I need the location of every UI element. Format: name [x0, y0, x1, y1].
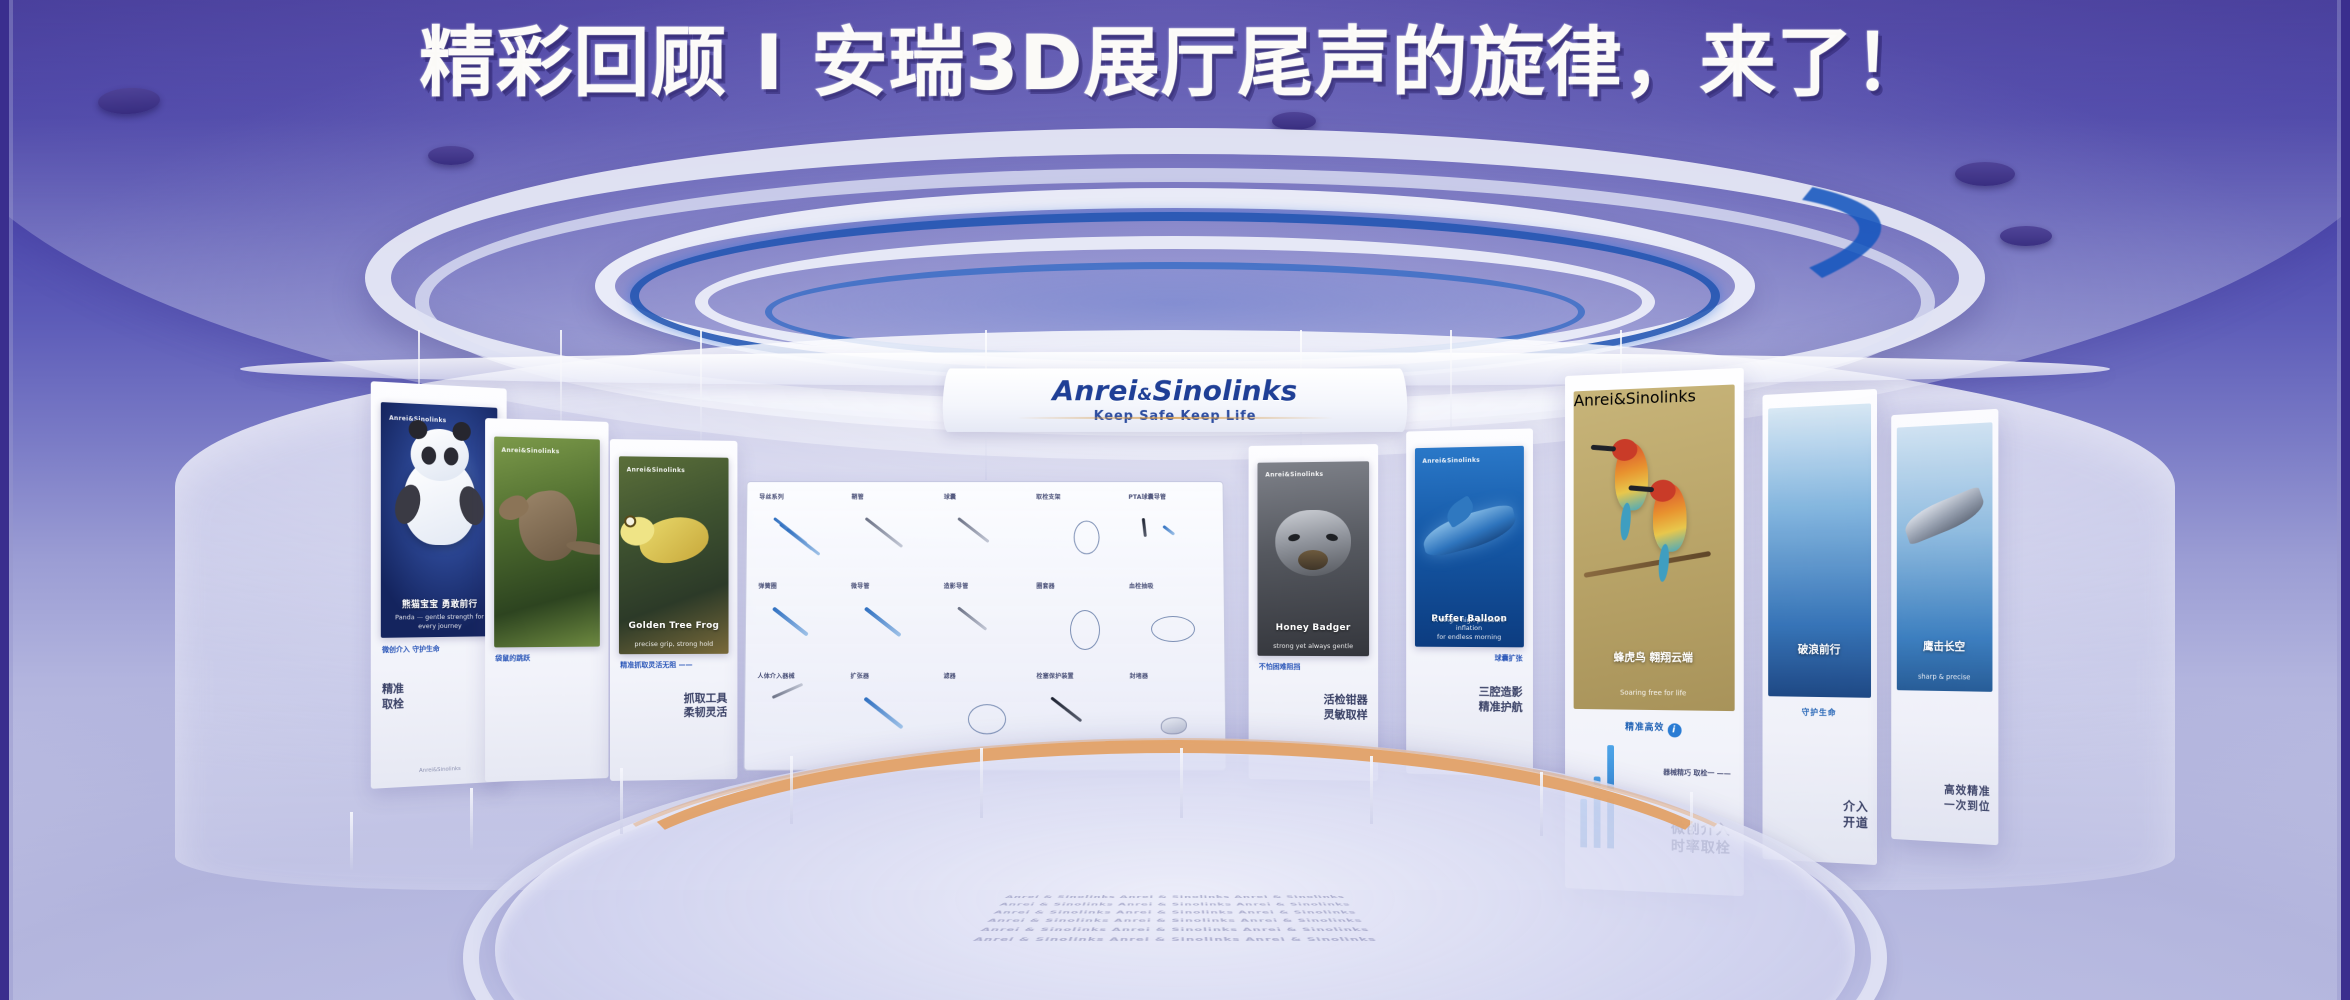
- poster-brand-label: Anrei&Sinolinks: [1574, 384, 1735, 410]
- banner-brand-text: 守护生命: [1802, 708, 1837, 718]
- stage-rail-post: [350, 812, 353, 870]
- instrument-label: PTA球囊导管: [1128, 492, 1166, 501]
- instrument-label: 导丝系列: [759, 492, 784, 501]
- instrument-label: 弹簧圈: [758, 581, 777, 590]
- instrument-cell[interactable]: PTA球囊导管: [1124, 492, 1215, 579]
- bird-illustration: [1615, 443, 1648, 512]
- left-edge-strip: [0, 0, 9, 1000]
- banner-image-bee-eater: Anrei&Sinolinks 蜂虎鸟 翱翔云端 Soaring free fo…: [1574, 384, 1735, 711]
- banner-subtitle: Soaring free for life: [1586, 688, 1721, 697]
- left-edge-soft: [9, 0, 13, 1000]
- poster-title: 熊猫宝宝 勇敢前行: [390, 600, 488, 612]
- brand-logo-amp: &: [1137, 385, 1152, 405]
- brand-logo-primary: Anrei: [1052, 374, 1137, 407]
- panel-body-text: 精准 取栓: [382, 680, 496, 713]
- banner-title: 破浪前行: [1776, 641, 1863, 657]
- instrument-cell[interactable]: 弹簧圈: [754, 581, 846, 669]
- instrument-label: 球囊: [944, 492, 956, 501]
- instrument-label: 栓塞保护装置: [1036, 671, 1073, 680]
- poster-brand-label: Anrei&Sinolinks: [501, 447, 559, 456]
- instrument-cell[interactable]: 血栓抽吸: [1125, 581, 1217, 669]
- ceiling-spotlight: [1272, 112, 1316, 130]
- poster-frog: Anrei&Sinolinks Golden Tree Frog precise…: [619, 456, 729, 654]
- poster-kangaroo: Anrei&Sinolinks: [494, 436, 600, 647]
- poster-subtitle: Panda — gentle strength for every journe…: [390, 613, 488, 631]
- ceiling-spotlight: [428, 146, 474, 165]
- panel-body-text: 三腔造影 精准护航: [1416, 685, 1522, 716]
- instrument-label: 封堵器: [1129, 671, 1148, 680]
- display-panel-frog[interactable]: Anrei&Sinolinks Golden Tree Frog precise…: [610, 439, 738, 781]
- kangaroo-illustration: [519, 490, 576, 561]
- instrument-cell[interactable]: 扩张器: [846, 671, 938, 760]
- instrument-label: 圈套器: [1036, 581, 1055, 590]
- panda-illustration: [404, 458, 476, 546]
- poster-brand-label: Anrei&Sinolinks: [1422, 457, 1480, 465]
- poster-badger: Anrei&Sinolinks Honey Badger strong yet …: [1258, 461, 1369, 656]
- exhibition-banner: Anrei&Sinolinks Keep Safe Keep Life Anre…: [0, 0, 2350, 1000]
- panel-caption: 球囊扩张: [1416, 654, 1522, 664]
- display-panel-dolphin[interactable]: Anrei&Sinolinks Puffer Balloon A single …: [1406, 428, 1533, 776]
- instrument-cell[interactable]: 人体介入器械: [753, 671, 845, 760]
- banner-wave[interactable]: 破浪前行 守护生命 介入 开道: [1762, 389, 1877, 865]
- poster-title: Honey Badger: [1266, 623, 1360, 634]
- banner-chart-caption: 器械精巧 取栓一 ——: [1663, 768, 1731, 780]
- banner-headline: 高效精准 一次到位: [1944, 783, 1991, 814]
- honey-badger-illustration: [1275, 510, 1351, 576]
- instrument-label: 人体介入器械: [757, 671, 794, 680]
- banner-brand-text: 精准高效: [1625, 723, 1664, 734]
- stage-rail-post: [1180, 748, 1183, 818]
- stage-rail-post: [980, 748, 983, 818]
- poster-brand-label: Anrei&Sinolinks: [627, 466, 685, 474]
- instrument-grid-board[interactable]: 导丝系列 鞘管 球囊 取栓支架 PTA球囊导管 弹簧圈 微导管 造影导管 圈套器…: [743, 481, 1226, 771]
- ceiling-spotlight: [1955, 162, 2015, 186]
- display-panel-badger[interactable]: Anrei&Sinolinks Honey Badger strong yet …: [1249, 444, 1379, 781]
- frog-illustration: [639, 518, 709, 562]
- page-title: 精彩回顾 I 安瑞3D展厅尾声的旋律，来了！: [0, 24, 2350, 102]
- brand-underline: [1017, 417, 1334, 419]
- banner-image-wave: 破浪前行: [1768, 403, 1871, 698]
- instrument-label: 扩张器: [850, 671, 869, 680]
- instrument-cell[interactable]: 鞘管: [847, 492, 938, 579]
- brand-logo: Anrei&Sinolinks: [1052, 377, 1297, 405]
- branch-illustration: [1584, 551, 1712, 578]
- instrument-label: 滤器: [943, 671, 955, 680]
- instrument-cell[interactable]: 造影导管: [940, 581, 1031, 669]
- poster-brand-label: Anrei&Sinolinks: [1265, 471, 1323, 479]
- instrument-label: 取栓支架: [1036, 492, 1061, 501]
- stage-rail-post: [1370, 756, 1373, 824]
- stage-rail-post: [1690, 792, 1693, 852]
- instrument-cell[interactable]: 取栓支架: [1032, 492, 1123, 579]
- dolphin-illustration: [1422, 514, 1517, 549]
- banner-brand-badge: 精准高效i: [1565, 719, 1744, 739]
- poster-dolphin: Anrei&Sinolinks Puffer Balloon A single …: [1415, 446, 1524, 648]
- panel-caption: 袋鼠的跳跃: [495, 654, 599, 664]
- banner-title: 鹰击长空: [1904, 638, 1985, 654]
- poster-subtitle: A single high pressure inflation for end…: [1423, 616, 1515, 642]
- display-panel-kangaroo[interactable]: Anrei&Sinolinks 袋鼠的跳跃: [485, 418, 608, 782]
- bird-illustration: [1653, 483, 1687, 552]
- poster-title: Golden Tree Frog: [628, 621, 720, 632]
- poster-panda: Anrei&Sinolinks 熊猫宝宝 勇敢前行 Panda — gentle…: [381, 402, 498, 638]
- banner-title: 蜂虎鸟 翱翔云端: [1586, 649, 1721, 666]
- instrument-cell[interactable]: 球囊: [940, 492, 1031, 579]
- instrument-cell[interactable]: 圈套器: [1032, 581, 1123, 669]
- banner-subtitle: sharp & precise: [1904, 672, 1985, 681]
- info-icon: i: [1667, 724, 1681, 738]
- brand-sign: Anrei&Sinolinks Keep Safe Keep Life: [942, 368, 1409, 432]
- panel-caption: 不怕困难阻挡: [1259, 663, 1368, 673]
- stage-rail-post: [1540, 772, 1543, 836]
- instrument-label: 血栓抽吸: [1129, 581, 1154, 590]
- eagle-illustration: [1903, 499, 1985, 532]
- banner-brand-badge: 守护生命: [1762, 706, 1877, 719]
- banner-eagle[interactable]: 鹰击长空 sharp & precise 高效精准 一次到位: [1891, 409, 1998, 845]
- panel-footer: Anrei&Sinolinks: [382, 764, 496, 776]
- brand-logo-secondary: Sinolinks: [1152, 374, 1297, 407]
- instrument-cell[interactable]: 微导管: [847, 581, 938, 669]
- ceiling-spotlight: [2000, 226, 2052, 246]
- panel-caption: 精准抓取灵活无阻 ——: [620, 661, 727, 671]
- right-edge-strip: [2341, 0, 2350, 1000]
- instrument-label: 鞘管: [852, 492, 864, 501]
- stage-rail-post: [470, 788, 473, 850]
- stage-rail-post: [790, 756, 793, 824]
- banner-image-eagle: 鹰击长空 sharp & precise: [1896, 422, 1992, 692]
- stage-rail-post: [620, 768, 623, 834]
- instrument-cell[interactable]: 导丝系列: [754, 492, 845, 579]
- panel-caption: 微创介入 守护生命: [382, 644, 496, 655]
- panel-body-text: 抓取工具 柔韧灵活: [620, 691, 727, 722]
- banner-headline: 介入 开道: [1843, 799, 1869, 832]
- poster-subtitle: precise grip, strong hold: [628, 640, 720, 649]
- poster-subtitle: strong yet always gentle: [1266, 642, 1360, 651]
- instrument-label: 微导管: [851, 581, 870, 590]
- panel-body-text: 活检钳器 灵敏取样: [1259, 693, 1368, 724]
- instrument-label: 造影导管: [944, 581, 969, 590]
